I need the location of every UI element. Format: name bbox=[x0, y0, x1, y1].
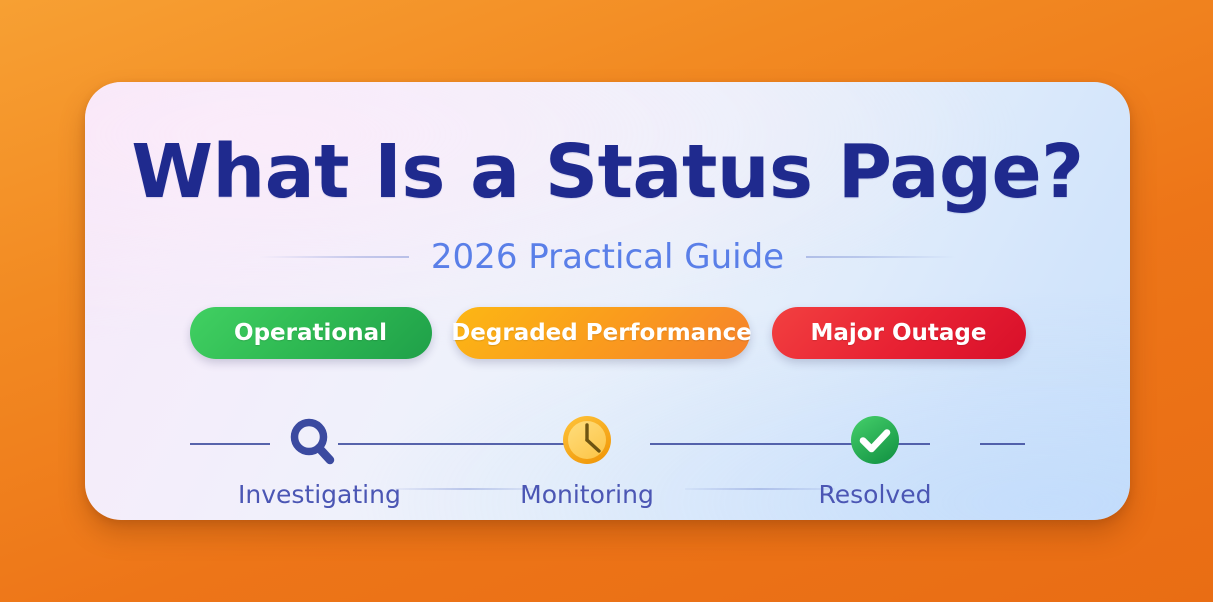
infographic-canvas: What Is a Status Page? 2026 Practical Gu… bbox=[0, 0, 1213, 602]
status-pill-operational[interactable]: Operational bbox=[190, 307, 432, 359]
timeline-label-monitoring: Monitoring bbox=[512, 480, 662, 510]
clock-icon bbox=[554, 410, 620, 476]
page-subtitle: 2026 Practical Guide bbox=[431, 237, 784, 277]
status-page-card: What Is a Status Page? 2026 Practical Gu… bbox=[85, 82, 1130, 520]
subtitle-rule-left bbox=[259, 256, 409, 258]
card-content: What Is a Status Page? 2026 Practical Gu… bbox=[85, 82, 1130, 520]
timeline-connector-end bbox=[980, 443, 1025, 445]
timeline-step-resolved[interactable]: Resolved bbox=[800, 410, 950, 510]
timeline-label-resolved: Resolved bbox=[800, 480, 950, 510]
timeline-label-investigating: Investigating bbox=[238, 480, 388, 510]
timeline-step-investigating[interactable]: Investigating bbox=[238, 410, 388, 510]
incident-timeline: Investigating bbox=[190, 392, 1025, 497]
status-pill-major-outage[interactable]: Major Outage bbox=[772, 307, 1026, 359]
status-pill-group: Operational Degraded Performance Major O… bbox=[85, 307, 1130, 359]
subtitle-row: 2026 Practical Guide bbox=[85, 234, 1130, 280]
page-title: What Is a Status Page? bbox=[85, 132, 1130, 212]
check-circle-icon bbox=[842, 410, 908, 476]
timeline-step-monitoring[interactable]: Monitoring bbox=[512, 410, 662, 510]
subtitle-rule-right bbox=[806, 256, 956, 258]
magnifier-icon bbox=[280, 410, 346, 476]
status-pill-degraded-performance[interactable]: Degraded Performance bbox=[454, 307, 750, 359]
